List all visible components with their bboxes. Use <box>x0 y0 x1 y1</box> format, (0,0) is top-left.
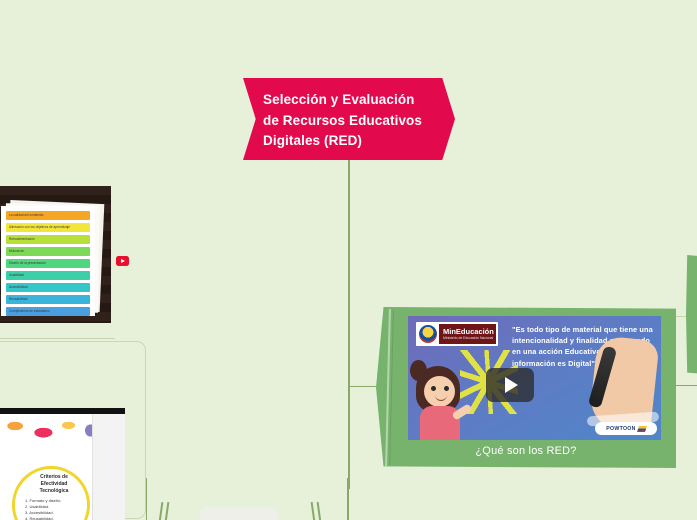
connector-trunk-vertical <box>348 159 350 489</box>
youtube-play-icon[interactable] <box>116 256 129 266</box>
criteria-bar-4: Motivación <box>6 247 90 256</box>
criteria-bar-6: Usabilidad <box>6 271 90 280</box>
oda-ring-title: Criterios de Efectividad Tecnológica <box>28 474 80 495</box>
criteria-bar-8: Reusabilidad <box>6 295 90 304</box>
character-eye-right <box>444 386 449 391</box>
criteria-bar-9: Cumplimiento de estándares <box>6 307 90 316</box>
criteria-bar-2: Alineación con los objetivos de aprendiz… <box>6 223 90 232</box>
node-ori-video-thumbnail[interactable]: La calidad del contenido Alineación con … <box>0 186 111 323</box>
powtoon-flag-icon <box>637 426 647 432</box>
paper-sheet-front: La calidad del contenido Alineación con … <box>1 206 95 316</box>
mineducacion-logo: MinEducación Ministerio de Educación Nac… <box>416 322 498 346</box>
character-face <box>424 376 455 407</box>
video-screen[interactable]: MinEducación Ministerio de Educación Nac… <box>408 316 661 440</box>
title-line-3: Digitales (RED) <box>263 131 437 152</box>
powtoon-label: POWTOON <box>606 426 635 432</box>
powtoon-watermark: POWTOON <box>595 422 657 435</box>
mineducacion-title: MinEducación <box>443 328 496 336</box>
branch-tick-3 <box>311 502 315 520</box>
connector-to-ori-node <box>0 338 115 339</box>
criteria-bar-7: Accesibilidad <box>6 283 90 292</box>
node-que-son-los-red-video[interactable]: MinEducación Ministerio de Educación Nac… <box>376 307 676 468</box>
mineducacion-logo-text: MinEducación Ministerio de Educación Nac… <box>439 324 496 344</box>
connector-bottom-left-edge <box>146 478 147 520</box>
character-eye-left <box>431 386 436 391</box>
criteria-bar-1: La calidad del contenido <box>6 211 90 220</box>
branch-tick-1 <box>159 502 163 520</box>
oda-side-panel <box>92 414 125 520</box>
right-node-banner-shape <box>686 255 697 375</box>
mindmap-canvas[interactable]: Selección y Evaluación de Recursos Educa… <box>0 0 697 520</box>
branch-tick-4 <box>317 502 321 520</box>
title-node-text: Selección y Evaluación de Recursos Educa… <box>263 90 437 152</box>
branch-tick-2 <box>165 502 169 520</box>
play-icon[interactable] <box>486 368 534 402</box>
title-line-2: de Recursos Educativos <box>263 111 437 132</box>
node-oda-slide-thumbnail[interactable]: de Calidad OdA Criterios de Efectividad … <box>0 408 125 520</box>
connector-trunk-to-video <box>349 386 377 387</box>
connector-video-right-stub <box>676 385 697 386</box>
central-title-node[interactable]: Selección y Evaluación de Recursos Educa… <box>243 78 455 160</box>
criteria-bar-5: Diseño de la presentación <box>6 259 90 268</box>
oda-ring-list: 1. Formato y diseño. 2. Usabilidad. 3. A… <box>25 498 83 520</box>
colombia-coat-of-arms-icon <box>418 324 438 344</box>
connector-bottom-right-edge <box>347 478 349 520</box>
criteria-bar-3: Retroalimentación <box>6 235 90 244</box>
mineducacion-subtitle: Ministerio de Educación Nacional <box>443 336 496 341</box>
node-right-partial[interactable] <box>686 255 697 375</box>
title-line-1: Selección y Evaluación <box>263 90 437 111</box>
video-node-caption: ¿Qué son los RED? <box>376 445 676 457</box>
node-bottom-partial[interactable] <box>200 507 278 520</box>
ori-thumbnail-image[interactable]: La calidad del contenido Alineación con … <box>0 186 111 323</box>
